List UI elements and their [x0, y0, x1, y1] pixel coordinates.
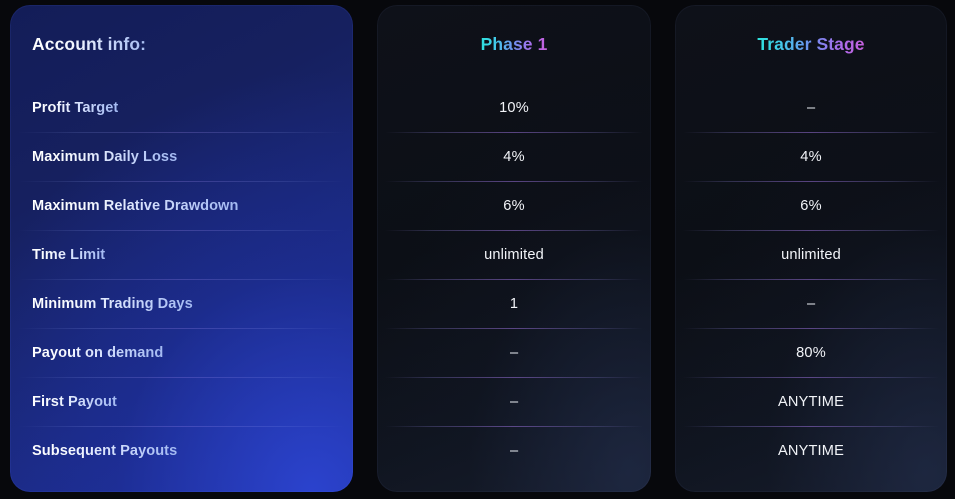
account-info-title: Account info:	[32, 34, 146, 55]
row-label-payout-on-demand: Payout on demand	[32, 345, 163, 361]
table-row: 1	[377, 279, 651, 328]
row-label-first-payout: First Payout	[32, 394, 117, 410]
table-row: 6%	[377, 181, 651, 230]
trader-stage-value-list: – 4% 6% unlimited – 80% ANYTIME ANYTIME	[675, 83, 947, 475]
trader-stage-value-maximum-daily-loss: 4%	[800, 149, 821, 165]
phase-1-value-maximum-daily-loss: 4%	[503, 149, 524, 165]
trader-stage-card-header: Trader Stage	[675, 5, 947, 83]
phase-1-value-list: 10% 4% 6% unlimited 1 – – –	[377, 83, 651, 475]
table-row: Minimum Trading Days	[10, 279, 353, 328]
table-row: –	[675, 83, 947, 132]
trader-stage-value-payout-on-demand: 80%	[796, 345, 826, 361]
table-row: ANYTIME	[675, 377, 947, 426]
row-label-maximum-daily-loss: Maximum Daily Loss	[32, 149, 177, 165]
row-label-profit-target: Profit Target	[32, 100, 118, 116]
phase-1-value-profit-target: 10%	[499, 100, 529, 116]
comparison-table-container: Account info: Profit Target Maximum Dail…	[0, 0, 955, 499]
table-row: First Payout	[10, 377, 353, 426]
row-label-subsequent-payouts: Subsequent Payouts	[32, 443, 177, 459]
table-row: –	[675, 279, 947, 328]
trader-stage-value-minimum-trading-days: –	[807, 296, 815, 312]
table-row: Payout on demand	[10, 328, 353, 377]
table-row: Subsequent Payouts	[10, 426, 353, 475]
phase-1-value-subsequent-payouts: –	[510, 443, 518, 459]
row-label-minimum-trading-days: Minimum Trading Days	[32, 296, 193, 312]
account-info-card: Account info: Profit Target Maximum Dail…	[10, 5, 353, 492]
phase-1-title: Phase 1	[481, 34, 548, 55]
row-label-time-limit: Time Limit	[32, 247, 105, 263]
trader-stage-value-maximum-relative-drawdown: 6%	[800, 198, 821, 214]
trader-stage-card[interactable]: Trader Stage – 4% 6% unlimited – 80% ANY…	[675, 5, 947, 492]
table-row: Maximum Daily Loss	[10, 132, 353, 181]
table-row: Profit Target	[10, 83, 353, 132]
trader-stage-value-time-limit: unlimited	[781, 247, 841, 263]
trader-stage-value-subsequent-payouts: ANYTIME	[778, 443, 844, 459]
trader-stage-value-first-payout: ANYTIME	[778, 394, 844, 410]
phase-1-value-minimum-trading-days: 1	[510, 296, 518, 312]
table-row: 4%	[377, 132, 651, 181]
trader-stage-title: Trader Stage	[757, 34, 864, 55]
phase-1-card-header: Phase 1	[377, 5, 651, 83]
table-row: 4%	[675, 132, 947, 181]
phase-1-value-time-limit: unlimited	[484, 247, 544, 263]
table-row: Time Limit	[10, 230, 353, 279]
phase-1-value-first-payout: –	[510, 394, 518, 410]
table-row: 10%	[377, 83, 651, 132]
table-row: ANYTIME	[675, 426, 947, 475]
table-row: –	[377, 328, 651, 377]
table-row: 6%	[675, 181, 947, 230]
phase-1-card[interactable]: Phase 1 10% 4% 6% unlimited 1 – –	[377, 5, 651, 492]
table-row: –	[377, 426, 651, 475]
account-info-card-header: Account info:	[10, 5, 353, 83]
phase-1-value-payout-on-demand: –	[510, 345, 518, 361]
table-row: unlimited	[377, 230, 651, 279]
table-row: unlimited	[675, 230, 947, 279]
table-row: Maximum Relative Drawdown	[10, 181, 353, 230]
row-label-maximum-relative-drawdown: Maximum Relative Drawdown	[32, 198, 238, 214]
phase-1-value-maximum-relative-drawdown: 6%	[503, 198, 524, 214]
table-row: 80%	[675, 328, 947, 377]
trader-stage-value-profit-target: –	[807, 100, 815, 116]
account-info-row-list: Profit Target Maximum Daily Loss Maximum…	[10, 83, 353, 475]
table-row: –	[377, 377, 651, 426]
